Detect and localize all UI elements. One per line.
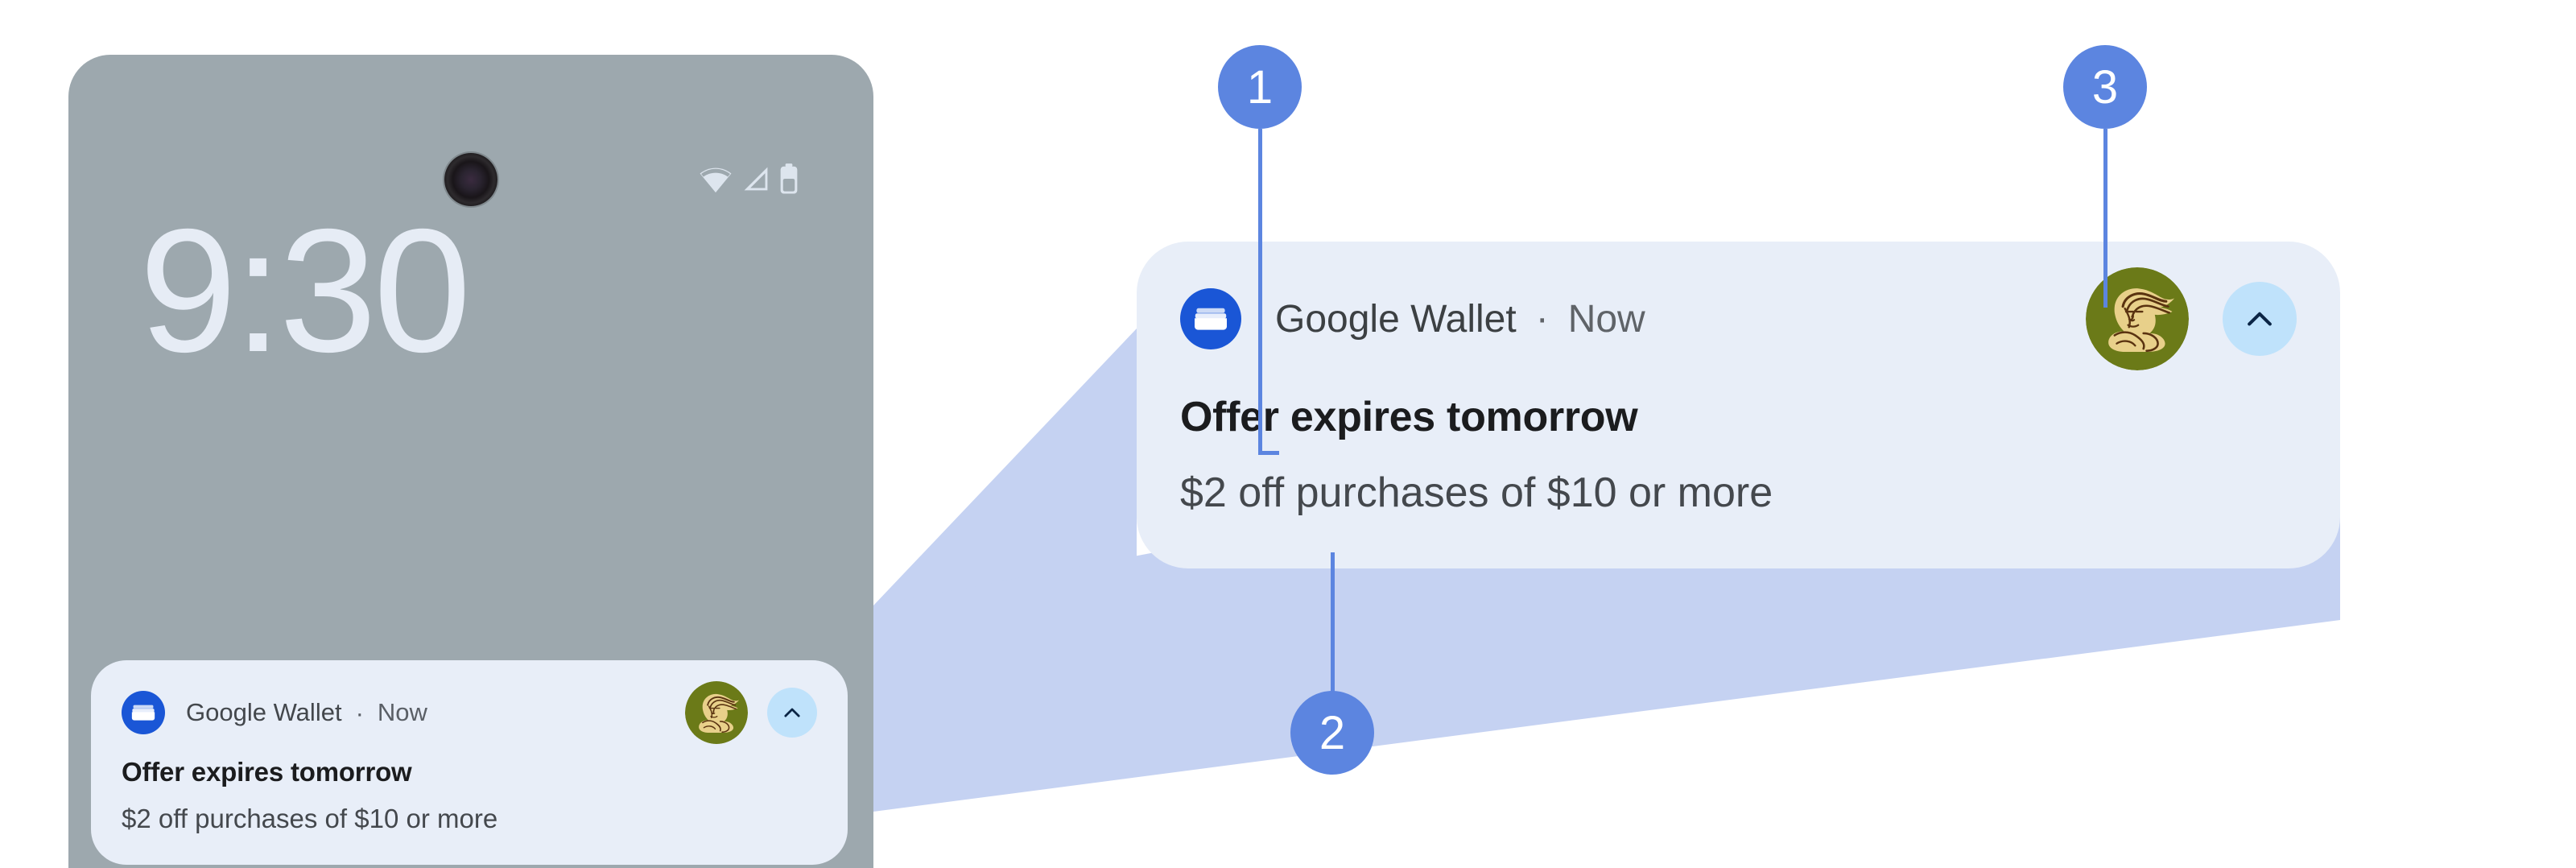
wifi-icon (698, 164, 733, 197)
status-bar (68, 55, 873, 216)
status-bar-icons (698, 163, 799, 199)
notification-header-large: Google Wallet · Now (1180, 280, 2297, 358)
notification-app-name: Google Wallet (1275, 297, 1517, 341)
notification-timestamp: Now (1568, 297, 1645, 341)
notification-title: Offer expires tomorrow (1180, 393, 2297, 441)
notification-app-name-small: Google Wallet (186, 698, 342, 727)
notification-header-small: Google Wallet · Now (122, 688, 817, 738)
notification-separator-small: · (356, 701, 364, 725)
chevron-up-icon-small[interactable] (767, 688, 817, 738)
notification-body: $2 off purchases of $10 or more (1180, 469, 2297, 517)
callout-1-leader-horizontal (1258, 451, 1279, 455)
merchant-avatar (2086, 267, 2189, 370)
callout-2-leader-vertical (1331, 552, 1335, 697)
notification-separator: · (1536, 300, 1549, 338)
callout-badge-1: 1 (1218, 45, 1302, 129)
merchant-avatar-small (685, 681, 748, 744)
callout-badge-3: 3 (2063, 45, 2147, 129)
notification-timestamp-small: Now (378, 698, 427, 727)
notification-card-small[interactable]: Google Wallet · Now (91, 660, 848, 865)
chevron-up-icon[interactable] (2223, 282, 2297, 356)
notification-body-small: $2 off purchases of $10 or more (122, 804, 817, 834)
callout-1-leader-vertical (1258, 129, 1262, 454)
lock-screen-clock: 9:30 (139, 204, 468, 379)
battery-icon (778, 163, 799, 199)
callout-3-leader-vertical (2103, 129, 2107, 308)
google-wallet-icon (122, 691, 165, 734)
google-wallet-icon-large (1180, 288, 1241, 349)
cellular-signal-icon (741, 164, 771, 197)
notification-title-small: Offer expires tomorrow (122, 757, 817, 787)
callout-badge-2: 2 (1290, 691, 1374, 775)
phone-mockup: 9:30 Google Wallet · Now (68, 55, 873, 868)
notification-card-large[interactable]: Google Wallet · Now (1137, 242, 2340, 568)
